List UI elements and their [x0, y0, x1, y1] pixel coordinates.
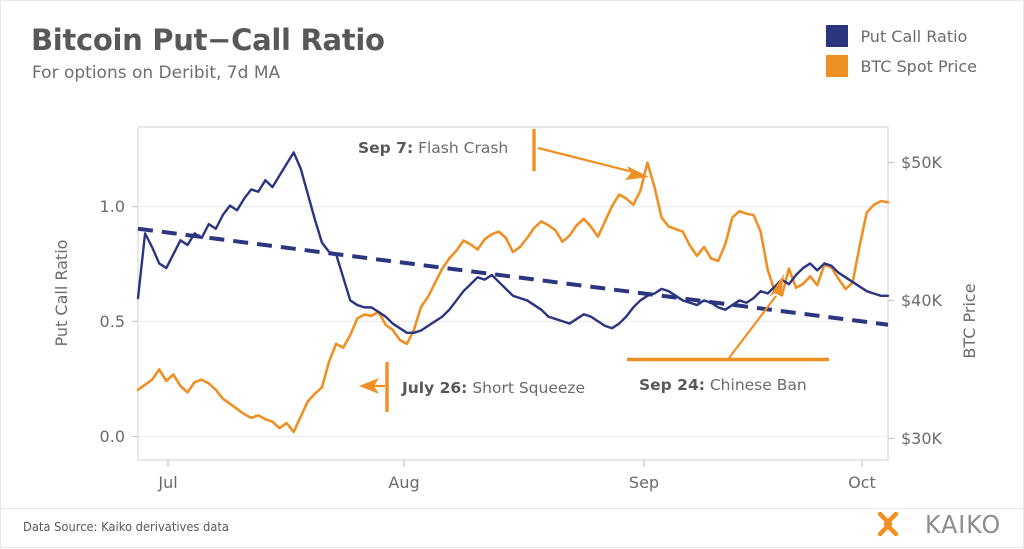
annotation-flash-crash-bold: Sep 7: — [358, 139, 413, 157]
x-tick-label-aug: Aug — [388, 473, 419, 492]
y2-tick-label-30k: $30K — [901, 429, 943, 448]
gridlines-horizontal — [138, 207, 888, 437]
plot-frame — [138, 127, 888, 460]
annotation-chinese-ban-bold: Sep 24: — [639, 376, 705, 394]
x-tick-label-jul: Jul — [157, 473, 177, 492]
annotation-chinese-ban-text: Sep 24: Chinese Ban — [639, 376, 807, 394]
y-tick-label-0: 0.0 — [100, 427, 125, 446]
annotation-flash-crash-text: Sep 7: Flash Crash — [358, 139, 508, 157]
x-tick-label-sep: Sep — [629, 473, 659, 492]
footer-divider — [1, 508, 1023, 509]
y-tick-label-05: 0.5 — [100, 312, 125, 331]
y-axis-title-left: Put Call Ratio — [52, 240, 71, 347]
y-axis-left: 1.0 0.5 0.0 Put Call Ratio — [52, 197, 138, 446]
kaiko-logo: KAIKO — [874, 509, 1001, 539]
annotation-short-squeeze-label: Short Squeeze — [467, 379, 585, 397]
y2-tick-label-40k: $40K — [901, 291, 943, 310]
x-axis: Jul Aug Sep Oct — [157, 460, 875, 492]
y2-tick-label-50k: $50K — [901, 153, 943, 172]
y-axis-title-right: BTC Price — [960, 283, 979, 358]
series-trendline-put-call-ratio — [138, 229, 888, 325]
annotation-short-squeeze-text: July 26: Short Squeeze — [401, 379, 585, 397]
annotation-short-squeeze-bold: July 26: — [401, 379, 467, 397]
series-line-put-call-ratio — [138, 152, 888, 332]
footer-source-text: Data Source: Kaiko derivatives data — [23, 519, 229, 534]
chart-plot-area: 1.0 0.5 0.0 Put Call Ratio $50K $40K $30… — [1, 1, 1024, 549]
x-tick-label-oct: Oct — [848, 473, 876, 492]
annotation-short-squeeze[interactable]: July 26: Short Squeeze — [359, 362, 585, 412]
kaiko-logo-text: KAIKO — [925, 510, 1001, 539]
kaiko-chevron-icon — [874, 509, 914, 539]
y-axis-right: $50K $40K $30K BTC Price — [888, 153, 979, 448]
annotation-flash-crash-label: Flash Crash — [413, 139, 508, 157]
chart-page: Bitcoin Put−Call Ratio For options on De… — [0, 0, 1024, 548]
chart-svg: 1.0 0.5 0.0 Put Call Ratio $50K $40K $30… — [1, 1, 1024, 549]
annotation-flash-crash[interactable]: Sep 7: Flash Crash — [358, 129, 649, 180]
y-tick-label-1: 1.0 — [100, 197, 125, 216]
annotation-flash-crash-leader — [538, 148, 637, 173]
annotation-chinese-ban-label: Chinese Ban — [705, 376, 807, 394]
